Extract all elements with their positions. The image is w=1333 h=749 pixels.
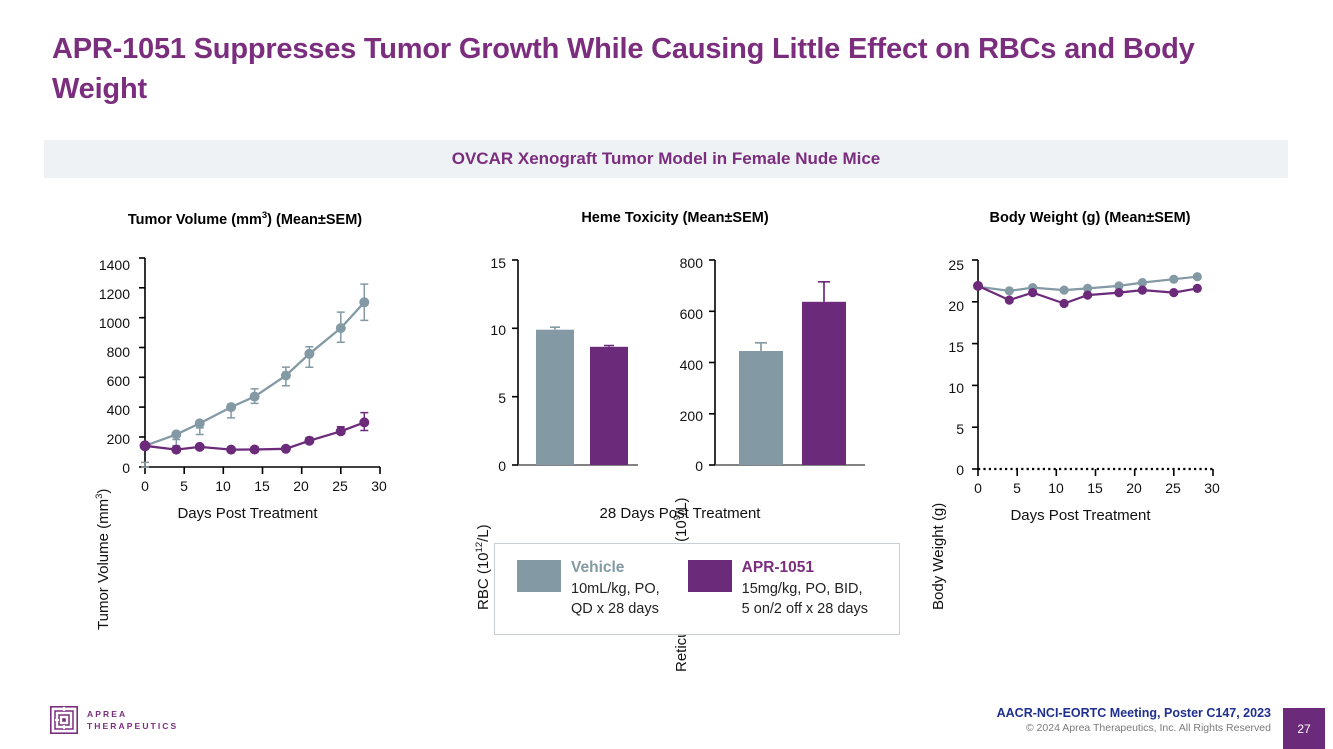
x-tick-label: 0 <box>963 480 993 496</box>
y-tick-label: 10 <box>458 322 506 338</box>
chart-heme-toxicity: Heme Toxicity (Mean±SEM) RBC (1012/L) 15… <box>460 210 890 530</box>
y-axis-title-tumor-volume: Tumor Volume (mm3) <box>94 489 112 630</box>
y-tick-label: 0 <box>655 458 703 474</box>
y-tick-label: 5 <box>458 390 506 406</box>
bar-vehicle <box>536 330 574 465</box>
x-tick-label: 30 <box>364 478 394 494</box>
y-tick-label: 0 <box>916 462 964 478</box>
chart-title-tail: ) (Mean±SEM) <box>267 212 362 228</box>
y-axis-title-body-weight: Body Weight (g) <box>930 503 947 610</box>
legend-item-apr1051: APR-1051 15mg/kg, PO, BID, 5 on/2 off x … <box>688 558 868 619</box>
y-tick-label: 200 <box>655 408 703 424</box>
plot-area-body-weight <box>968 255 1258 490</box>
y-tick-label: 1000 <box>68 315 130 331</box>
y-tick-label: 15 <box>916 339 964 355</box>
x-axis-title-tumor-volume: Days Post Treatment <box>125 505 370 522</box>
y-tick-label: 400 <box>68 402 130 418</box>
y-tick-label: 15 <box>458 255 506 271</box>
legend-label-vehicle: Vehicle <box>571 558 660 579</box>
legend: Vehicle 10mL/kg, PO, QD x 28 days APR-10… <box>494 543 900 635</box>
y-tick-label: 1400 <box>68 257 130 273</box>
legend-detail-apr1051-line2: 5 on/2 off x 28 days <box>742 599 868 619</box>
aprea-maze-icon <box>50 706 78 734</box>
footer-meeting-label: AACR-NCI-EORTC Meeting, Poster C147, 202… <box>997 706 1271 720</box>
y-tick-label: 600 <box>655 306 703 322</box>
y-axis-title-sup: 12 <box>474 542 485 553</box>
x-tick-label: 25 <box>1158 480 1188 496</box>
company-logo-text: APREA THERAPEUTICS <box>87 708 178 732</box>
x-tick-label: 10 <box>1041 480 1071 496</box>
y-tick-label: 800 <box>655 255 703 271</box>
legend-detail-vehicle-line1: 10mL/kg, PO, <box>571 579 660 599</box>
logo-line-2: THERAPEUTICS <box>87 720 178 732</box>
legend-item-vehicle: Vehicle 10mL/kg, PO, QD x 28 days <box>517 558 660 619</box>
x-tick-label: 30 <box>1197 480 1227 496</box>
x-tick-label: 15 <box>247 478 277 494</box>
page-title: APR-1051 Suppresses Tumor Growth While C… <box>52 30 1252 109</box>
bar-apr1051 <box>802 302 846 465</box>
section-banner-label: OVCAR Xenograft Tumor Model in Female Nu… <box>452 149 881 169</box>
chart-tumor-volume: Tumor Volume (mm3) (Mean±SEM) Tumor Volu… <box>80 210 450 530</box>
x-tick-label: 10 <box>208 478 238 494</box>
page-number-badge: 27 <box>1283 708 1325 749</box>
chart-body-weight: Body Weight (g) (Mean±SEM) Body Weight (… <box>900 210 1280 530</box>
chart-title-tumor-volume: Tumor Volume (mm3) (Mean±SEM) <box>80 210 410 228</box>
series-line-vehicle <box>145 302 364 446</box>
company-logo: APREA THERAPEUTICS <box>50 706 178 734</box>
y-tick-label: 1200 <box>68 286 130 302</box>
y-tick-label: 600 <box>68 373 130 389</box>
legend-swatch-apr1051 <box>688 560 732 592</box>
logo-line-1: APREA <box>87 708 178 720</box>
y-axis-title-sup: 3 <box>94 494 105 499</box>
y-axis-title-text: RBC (10 <box>475 552 492 610</box>
y-tick-label: 5 <box>916 421 964 437</box>
x-tick-label: 15 <box>1080 480 1110 496</box>
y-tick-label: 0 <box>68 460 130 476</box>
chart-title-heme-toxicity: Heme Toxicity (Mean±SEM) <box>460 210 890 226</box>
x-tick-label: 25 <box>325 478 355 494</box>
x-tick-label: 5 <box>1002 480 1032 496</box>
legend-detail-apr1051-line1: 15mg/kg, PO, BID, <box>742 579 868 599</box>
x-tick-label: 20 <box>286 478 316 494</box>
x-tick-label: 0 <box>130 478 160 494</box>
y-tick-label: 800 <box>68 344 130 360</box>
section-banner: OVCAR Xenograft Tumor Model in Female Nu… <box>44 140 1288 178</box>
footer-attribution: AACR-NCI-EORTC Meeting, Poster C147, 202… <box>997 706 1271 734</box>
y-axis-title-tail: ) <box>95 489 112 494</box>
x-tick-label: 5 <box>169 478 199 494</box>
series-points-vehicle <box>171 297 369 439</box>
y-axis-title-rbc: RBC (1012/L) <box>474 524 492 610</box>
legend-detail-vehicle-line2: QD x 28 days <box>571 599 660 619</box>
y-tick-label: 400 <box>655 357 703 373</box>
y-axis-title-text: Tumor Volume (mm <box>95 499 112 630</box>
x-axis-title-heme-toxicity: 28 Days Post Treatment <box>530 505 830 522</box>
footer-copyright: © 2024 Aprea Therapeutics, Inc. All Righ… <box>997 722 1271 734</box>
y-axis-title-tail: /L) <box>475 524 492 542</box>
y-tick-label: 200 <box>68 431 130 447</box>
y-tick-label: 10 <box>916 380 964 396</box>
plot-area-reticulocyte <box>707 255 872 485</box>
slide: APR-1051 Suppresses Tumor Growth While C… <box>0 0 1333 749</box>
y-tick-label: 0 <box>458 458 506 474</box>
x-tick-label: 20 <box>1119 480 1149 496</box>
plot-area-tumor-volume <box>135 255 455 490</box>
legend-swatch-vehicle <box>517 560 561 592</box>
bar-vehicle <box>739 351 783 465</box>
chart-title-body-weight: Body Weight (g) (Mean±SEM) <box>900 210 1280 226</box>
y-tick-label: 25 <box>916 257 964 273</box>
bar-apr1051 <box>590 347 628 465</box>
chart-title-text: Tumor Volume (mm <box>128 212 262 228</box>
plot-area-rbc <box>510 255 650 485</box>
x-axis-title-body-weight: Days Post Treatment <box>958 507 1203 524</box>
legend-label-apr1051: APR-1051 <box>742 558 868 579</box>
y-tick-label: 20 <box>916 298 964 314</box>
